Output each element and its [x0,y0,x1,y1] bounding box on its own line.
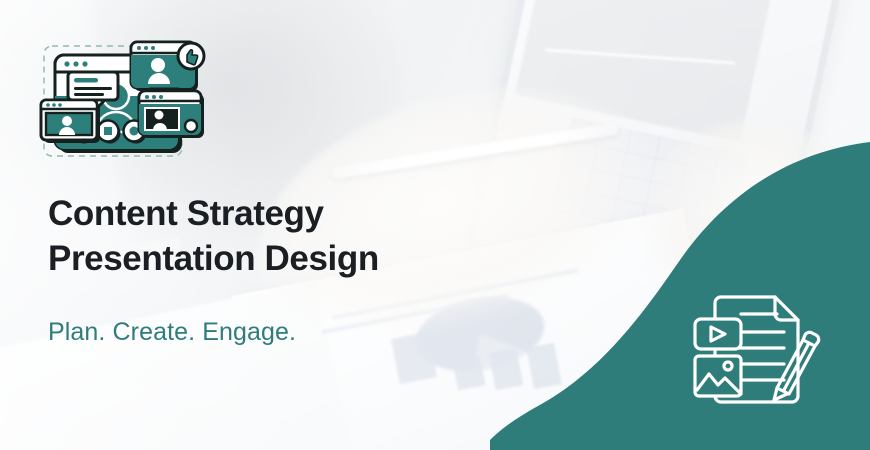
window-dot [144,46,148,50]
chat-line [74,78,98,83]
window-dot [52,103,56,107]
content-strategy-illustration [38,34,223,164]
window-dot [58,103,62,107]
window-dot [152,95,156,99]
banner-root: Content Strategy Presentation Design Pla… [0,0,870,450]
illustration-group [41,42,204,156]
thumbs-up-window [131,42,204,92]
window-dot [82,61,87,66]
content-document-icon [690,288,835,408]
headline-line-2: Presentation Design [48,237,379,282]
page-title: Content Strategy Presentation Design [48,192,379,282]
window-dot [145,95,149,99]
chat-line [74,87,112,90]
subtitle: Plan. Create. Engage. [48,318,296,347]
image-thumbnail [695,356,741,396]
window-dot [64,61,69,66]
window-dot [159,95,163,99]
video-thumbnail-window [139,91,204,138]
window-dot [151,46,155,50]
play-button-thumbnail [695,319,741,349]
photo-window [41,100,100,143]
window-dot [46,103,50,107]
headline-line-1: Content Strategy [48,192,379,237]
chat-line [74,93,104,96]
pencil-icon [774,332,819,400]
window-dot [73,61,78,66]
window-dot [137,46,141,50]
